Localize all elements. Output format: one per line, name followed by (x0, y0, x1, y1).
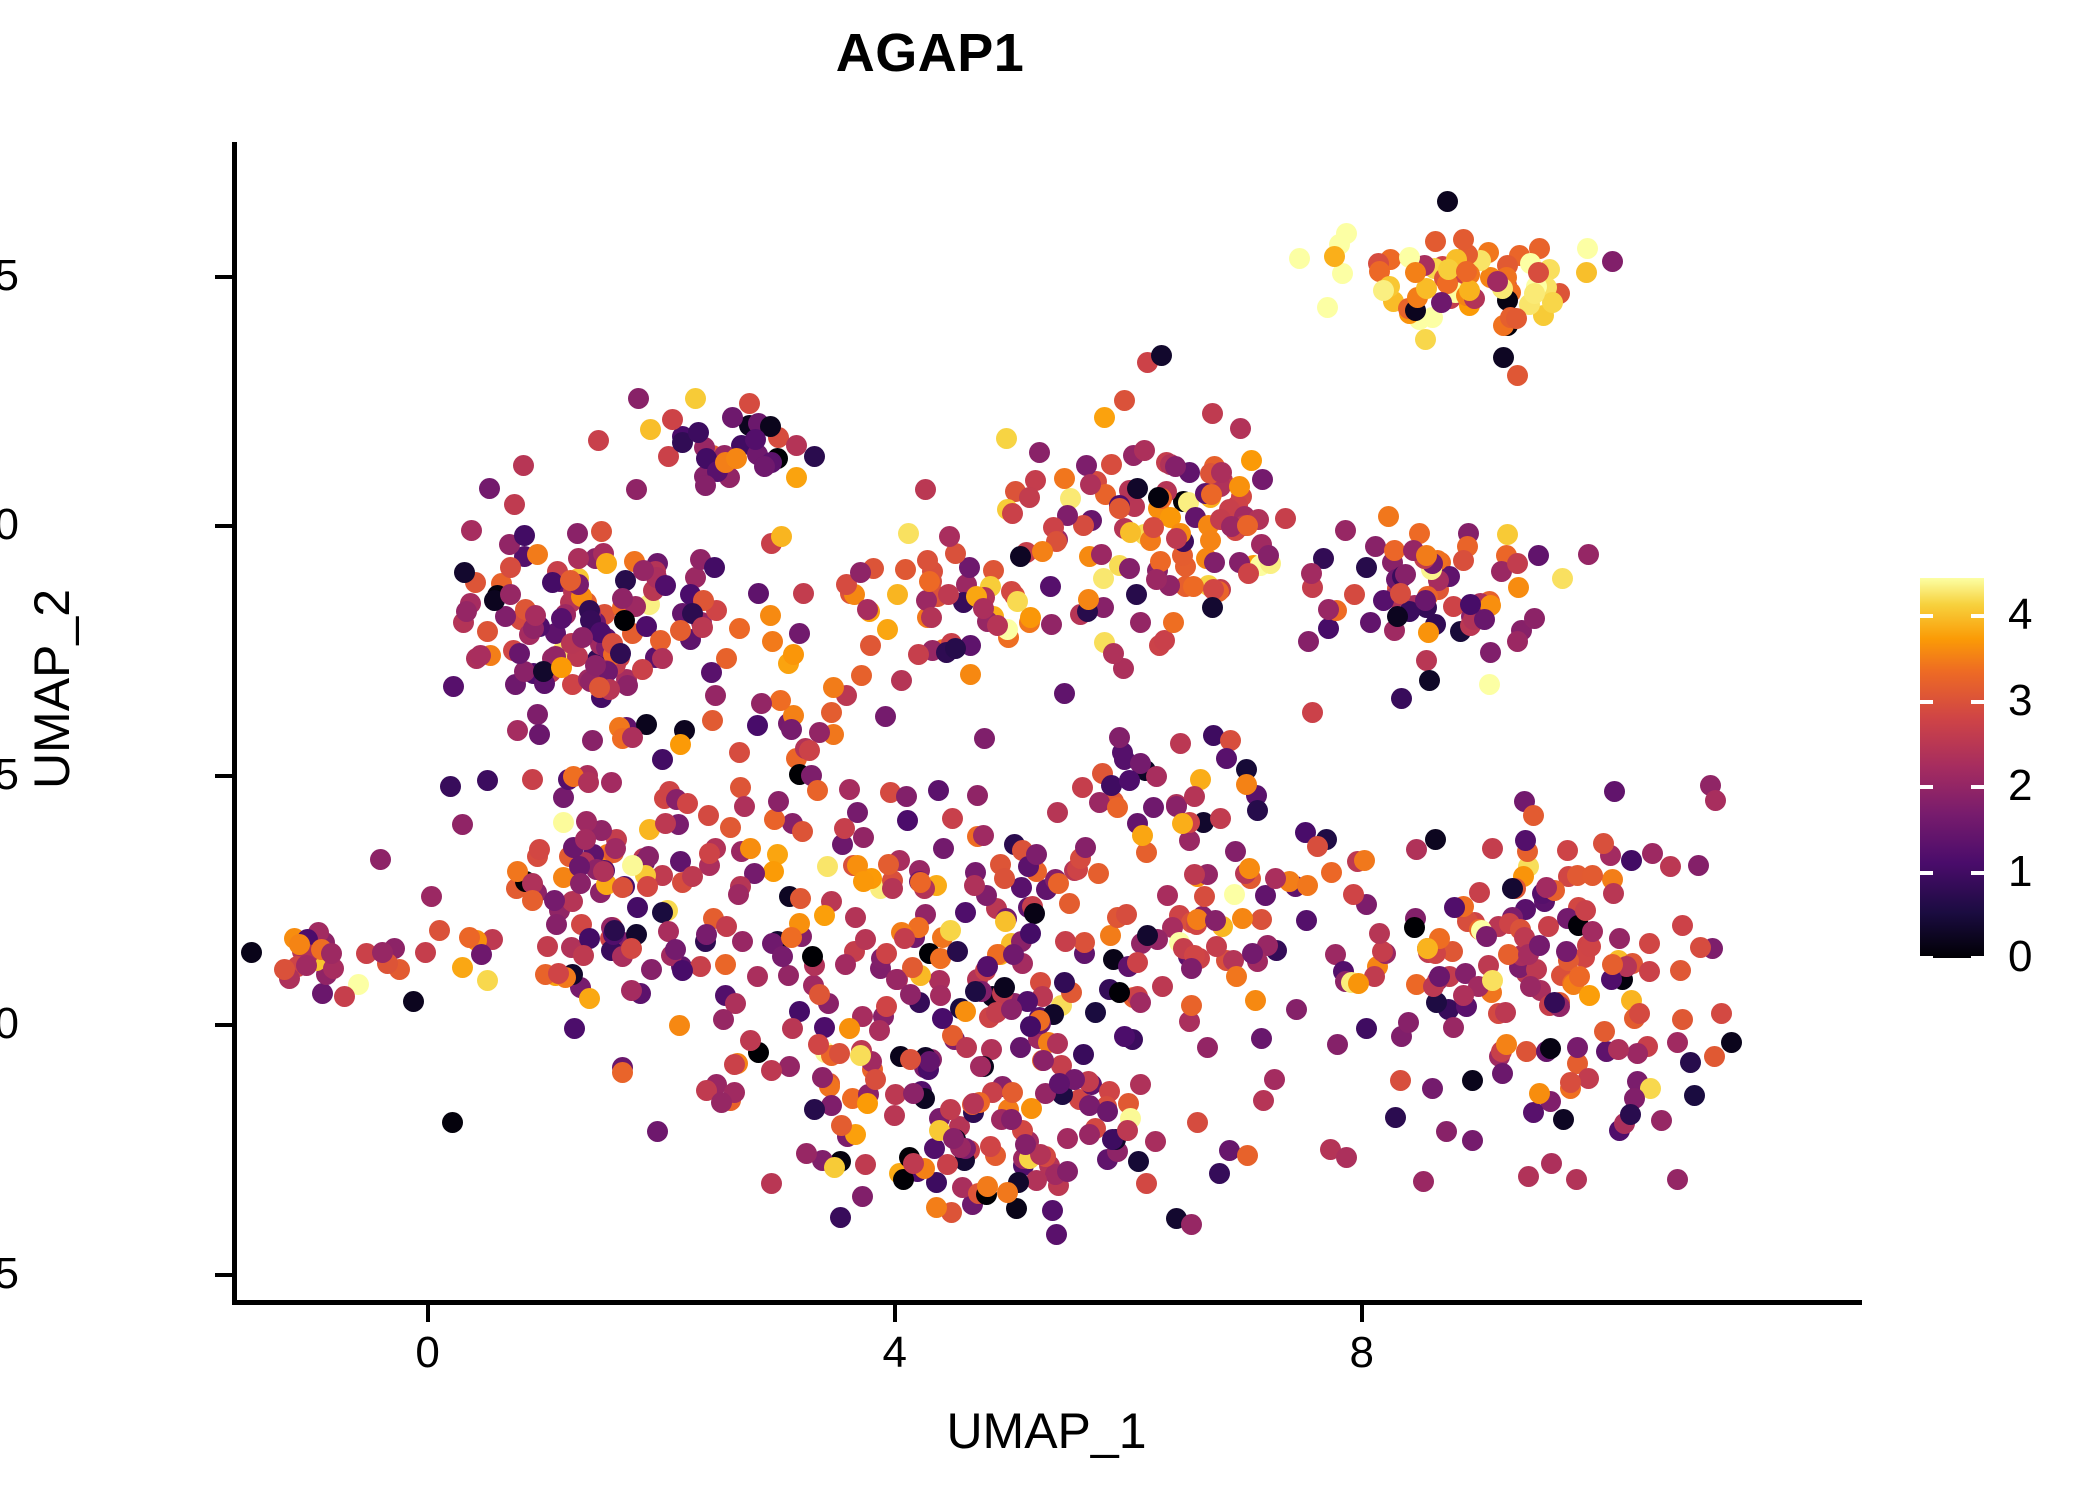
scatter-point (551, 657, 572, 678)
scatter-point (551, 608, 572, 629)
scatter-point (955, 1001, 976, 1022)
scatter-point (1385, 1107, 1406, 1128)
scatter-point (1528, 545, 1549, 566)
scatter-point (1540, 1038, 1561, 1059)
scatter-point (1688, 855, 1709, 876)
scatter-point (789, 623, 810, 644)
scatter-points-layer (235, 142, 1858, 1303)
scatter-point (1343, 884, 1364, 905)
scatter-point (745, 429, 766, 450)
scatter-point (1721, 1032, 1742, 1053)
scatter-point (1552, 568, 1573, 589)
scatter-point (507, 720, 528, 741)
scatter-point (1073, 1044, 1094, 1065)
colorbar-tick-label: 0 (2008, 935, 2032, 979)
scatter-point (903, 1083, 924, 1104)
scatter-point (1200, 530, 1221, 551)
scatter-point (1378, 506, 1399, 527)
scatter-point (1075, 837, 1096, 858)
scatter-point (1541, 1153, 1562, 1174)
scatter-point (573, 945, 594, 966)
colorbar-tick-mark (1971, 700, 1984, 704)
scatter-point (1080, 474, 1101, 495)
scatter-point (1453, 229, 1474, 250)
scatter-point (730, 777, 751, 798)
scatter-point (921, 607, 942, 628)
scatter-point (713, 1009, 734, 1030)
scatter-point (372, 942, 393, 963)
scatter-point (1029, 442, 1050, 463)
colorbar-tick-mark (1971, 614, 1984, 618)
scatter-point (1109, 982, 1130, 1003)
scatter-point (1157, 885, 1178, 906)
x-axis-line (232, 1300, 1862, 1305)
scatter-point (895, 559, 916, 580)
scatter-point (1356, 557, 1377, 578)
scatter-point (504, 494, 525, 515)
plot-panel (235, 142, 1858, 1303)
scatter-point (1237, 515, 1258, 536)
scatter-point (1184, 864, 1205, 885)
scatter-point (956, 1037, 977, 1058)
scatter-point (839, 779, 860, 800)
scatter-point (1236, 774, 1257, 795)
scatter-point (1459, 280, 1480, 301)
scatter-point (751, 693, 772, 714)
scatter-point (685, 388, 706, 409)
scatter-point (734, 796, 755, 817)
scatter-point (1369, 923, 1390, 944)
scatter-point (1057, 1128, 1078, 1149)
scatter-point (1462, 1130, 1483, 1151)
scatter-point (1398, 1012, 1419, 1033)
scatter-point (1579, 985, 1600, 1006)
scatter-point (1578, 1068, 1599, 1089)
scatter-point (1210, 808, 1231, 829)
scatter-point (705, 685, 726, 706)
scatter-point (628, 388, 649, 409)
scatter-point (886, 969, 907, 990)
scatter-point (809, 984, 830, 1005)
scatter-point (869, 1020, 890, 1041)
scatter-point (740, 1030, 761, 1051)
scatter-point (1415, 329, 1436, 350)
scatter-point (1518, 1166, 1539, 1187)
scatter-point (1146, 569, 1167, 590)
scatter-point (747, 715, 768, 736)
scatter-point (1047, 802, 1068, 823)
scatter-point (1417, 938, 1438, 959)
scatter-point (1085, 1002, 1106, 1023)
scatter-point (908, 644, 929, 665)
scatter-point (1456, 261, 1477, 282)
colorbar-tick-label: 2 (2008, 764, 2032, 808)
scatter-point (522, 769, 543, 790)
scatter-point (1704, 1046, 1725, 1067)
scatter-point (1684, 1085, 1705, 1106)
scatter-point (1391, 688, 1412, 709)
scatter-point (1094, 407, 1115, 428)
x-tick-label: 8 (1302, 1328, 1422, 1378)
scatter-point (461, 520, 482, 541)
scatter-point (1566, 1169, 1587, 1190)
scatter-point (514, 525, 535, 546)
scatter-point (1137, 925, 1158, 946)
scatter-point (1252, 469, 1273, 490)
scatter-point (655, 575, 676, 596)
scatter-point (415, 942, 436, 963)
scatter-point (1390, 1070, 1411, 1091)
scatter-point (1344, 584, 1365, 605)
scatter-point (1515, 830, 1536, 851)
scatter-point (1443, 1017, 1464, 1038)
scatter-point (688, 422, 709, 443)
scatter-point (919, 1051, 940, 1072)
scatter-point (1318, 618, 1339, 639)
scatter-point (690, 956, 711, 977)
scatter-point (960, 664, 981, 685)
scatter-point (1476, 926, 1497, 947)
scatter-point (1033, 1050, 1054, 1071)
scatter-point (804, 1099, 825, 1120)
scatter-point (1275, 508, 1296, 529)
scatter-point (1239, 858, 1260, 879)
scatter-point (605, 838, 626, 859)
scatter-point (772, 946, 793, 967)
scatter-point (632, 659, 653, 680)
scatter-point (1705, 790, 1726, 811)
scatter-point (1602, 251, 1623, 272)
scatter-point (610, 643, 631, 664)
scatter-point (928, 780, 949, 801)
scatter-point (980, 1136, 1001, 1157)
scatter-point (1318, 599, 1339, 620)
scatter-point (1253, 1090, 1274, 1111)
scatter-point (1578, 544, 1599, 565)
scatter-point (884, 1105, 905, 1126)
x-tick-mark (1360, 1305, 1364, 1322)
colorbar-tick-label: 1 (2008, 850, 2032, 894)
scatter-point (939, 526, 960, 547)
scatter-point (1639, 961, 1660, 982)
scatter-point (1054, 468, 1075, 489)
scatter-point (601, 772, 622, 793)
scatter-point (1232, 908, 1253, 929)
scatter-point (1003, 944, 1024, 965)
scatter-point (522, 890, 543, 911)
scatter-point (900, 1049, 921, 1070)
scatter-point (1437, 191, 1458, 212)
scatter-point (877, 619, 898, 640)
x-tick-mark (426, 1305, 430, 1322)
scatter-point (1238, 563, 1259, 584)
scatter-point (312, 983, 333, 1004)
scatter-point (875, 706, 896, 727)
scatter-point (1181, 958, 1202, 979)
scatter-point (567, 523, 588, 544)
scatter-point (1538, 916, 1559, 937)
scatter-point (612, 877, 633, 898)
scatter-point (1128, 1151, 1149, 1172)
scatter-point (1418, 622, 1439, 643)
scatter-point (974, 728, 995, 749)
scatter-point (470, 645, 491, 666)
scatter-point (1523, 1102, 1544, 1123)
scatter-point (1015, 1134, 1036, 1155)
scatter-point (471, 944, 492, 965)
scatter-point (702, 710, 723, 731)
scatter-point (1415, 590, 1436, 611)
scatter-point (1575, 900, 1596, 921)
scatter-point (1582, 865, 1603, 886)
scatter-point (477, 970, 498, 991)
scatter-point (1127, 952, 1148, 973)
scatter-point (1130, 612, 1151, 633)
scatter-point (917, 550, 938, 571)
scatter-point (1620, 1104, 1641, 1125)
colorbar-tick-mark (1920, 956, 1933, 960)
scatter-point (926, 1197, 947, 1218)
scatter-point (940, 920, 961, 941)
y-tick-mark (215, 1023, 232, 1027)
scatter-point (1093, 568, 1114, 589)
x-axis-label: UMAP_1 (235, 1402, 1858, 1460)
scatter-point (824, 1157, 845, 1178)
scatter-point (852, 1186, 873, 1207)
scatter-point (696, 924, 717, 945)
scatter-point (454, 562, 475, 583)
scatter-point (1336, 223, 1357, 244)
scatter-point (786, 467, 807, 488)
scatter-point (695, 475, 716, 496)
y-axis-label: UMAP_2 (23, 519, 81, 859)
x-tick-label: 4 (835, 1328, 955, 1378)
scatter-point (1170, 733, 1191, 754)
scatter-point (726, 448, 747, 469)
scatter-point (771, 526, 792, 547)
scatter-point (604, 920, 625, 941)
scatter-point (1130, 1074, 1151, 1095)
scatter-point (876, 996, 897, 1017)
scatter-point (761, 1173, 782, 1194)
scatter-point (1507, 365, 1528, 386)
scatter-point (585, 655, 606, 676)
chart-page: AGAP1 -2.50.02.55.07.5 048 UMAP_2 UMAP_1… (0, 0, 2100, 1500)
scatter-point (672, 960, 693, 981)
scatter-point (570, 873, 591, 894)
scatter-point (670, 620, 691, 641)
scatter-point (930, 985, 951, 1006)
scatter-point (739, 393, 760, 414)
scatter-point (850, 562, 871, 583)
colorbar-tick-label: 4 (2008, 593, 2032, 637)
scatter-point (1373, 280, 1394, 301)
scatter-point (940, 1099, 961, 1120)
scatter-point (1404, 917, 1425, 938)
y-tick-label: 0.0 (0, 999, 19, 1049)
scatter-point (799, 740, 820, 761)
scatter-point (997, 1182, 1018, 1203)
scatter-point (763, 861, 784, 882)
scatter-point (977, 956, 998, 977)
scatter-point (582, 730, 603, 751)
scatter-point (1114, 1026, 1135, 1047)
scatter-point (1627, 1043, 1648, 1064)
scatter-point (1055, 931, 1076, 952)
scatter-point (802, 946, 823, 967)
scatter-point (578, 772, 599, 793)
scatter-point (732, 931, 753, 952)
scatter-point (296, 955, 317, 976)
scatter-point (740, 838, 761, 859)
scatter-point (938, 584, 959, 605)
scatter-point (1103, 643, 1124, 664)
scatter-point (1143, 797, 1164, 818)
scatter-point (1336, 1147, 1357, 1168)
scatter-point (572, 627, 593, 648)
scatter-point (855, 1154, 876, 1175)
colorbar-tick-label: 3 (2008, 679, 2032, 723)
scatter-point (1107, 797, 1128, 818)
scatter-point (1444, 897, 1465, 918)
scatter-point (955, 902, 976, 923)
scatter-point (1289, 248, 1310, 269)
scatter-point (1163, 612, 1184, 633)
colorbar-gradient (1920, 578, 1984, 958)
scatter-point (1152, 976, 1173, 997)
scatter-point (1523, 805, 1544, 826)
scatter-point (853, 871, 874, 892)
scatter-point (421, 886, 442, 907)
scatter-point (637, 876, 658, 897)
scatter-point (1079, 1124, 1100, 1145)
scatter-point (589, 677, 610, 698)
y-axis-line (232, 142, 237, 1305)
scatter-point (1116, 904, 1137, 925)
colorbar-tick-mark (1971, 871, 1984, 875)
scatter-point (440, 776, 461, 797)
scatter-point (932, 1008, 953, 1029)
scatter-point (1502, 878, 1523, 899)
scatter-point (560, 570, 581, 591)
scatter-point (970, 1056, 991, 1077)
scatter-point (1001, 1109, 1022, 1130)
scatter-point (1577, 238, 1598, 259)
colorbar-tick-mark (1920, 871, 1933, 875)
scatter-point (1480, 642, 1501, 663)
scatter-point (845, 907, 866, 928)
scatter-point (1209, 1163, 1230, 1184)
scatter-point (1553, 1109, 1574, 1130)
scatter-point (761, 1060, 782, 1081)
scatter-point (1026, 1170, 1047, 1191)
scatter-point (1365, 536, 1386, 557)
scatter-point (477, 770, 498, 791)
scatter-point (1101, 454, 1122, 475)
scatter-point (568, 548, 589, 569)
scatter-point (537, 936, 558, 957)
scatter-point (692, 617, 713, 638)
scatter-point (1057, 1161, 1078, 1182)
scatter-point (792, 821, 813, 842)
scatter-point (1302, 702, 1323, 723)
scatter-point (1354, 850, 1375, 871)
scatter-point (1204, 552, 1225, 573)
scatter-point (627, 897, 648, 918)
scatter-point (1602, 954, 1623, 975)
scatter-point (915, 479, 936, 500)
scatter-point (1130, 992, 1151, 1013)
scatter-point (1019, 487, 1040, 508)
scatter-point (669, 1015, 690, 1036)
scatter-point (1047, 1033, 1068, 1054)
scatter-point (1206, 936, 1227, 957)
colorbar-tick-mark (1920, 785, 1933, 789)
scatter-point (1074, 932, 1095, 953)
scatter-point (1194, 886, 1215, 907)
scatter-point (1327, 1034, 1348, 1055)
scatter-point (477, 621, 498, 642)
scatter-point (701, 662, 722, 683)
scatter-point (1360, 612, 1381, 633)
scatter-point (1387, 606, 1408, 627)
scatter-point (778, 965, 799, 986)
scatter-point (1493, 347, 1514, 368)
scatter-point (1109, 498, 1130, 519)
scatter-point (1524, 608, 1545, 629)
scatter-point (1088, 863, 1109, 884)
scatter-point (1184, 786, 1205, 807)
scatter-point (633, 560, 654, 581)
scatter-point (1114, 390, 1135, 411)
scatter-point (1492, 1063, 1513, 1084)
scatter-point (1335, 520, 1356, 541)
scatter-point (562, 891, 583, 912)
scatter-point (1667, 1169, 1688, 1190)
scatter-point (1247, 800, 1268, 821)
scatter-point (1317, 297, 1338, 318)
scatter-point (677, 793, 698, 814)
scatter-point (1604, 781, 1625, 802)
scatter-point (334, 986, 355, 1007)
scatter-point (1469, 882, 1490, 903)
scatter-point (1251, 909, 1272, 930)
scatter-point (1002, 1082, 1023, 1103)
y-tick-label: 7.5 (0, 251, 19, 301)
scatter-point (1507, 553, 1528, 574)
scatter-point (891, 670, 912, 691)
scatter-point (1453, 550, 1474, 571)
colorbar-tick-mark (1971, 956, 1984, 960)
scatter-point (1010, 546, 1031, 567)
scatter-point (1593, 833, 1614, 854)
scatter-point (781, 719, 802, 740)
scatter-point (817, 856, 838, 877)
scatter-point (1132, 825, 1153, 846)
scatter-point (715, 954, 736, 975)
scatter-point (1032, 541, 1053, 562)
scatter-point (546, 914, 567, 935)
scatter-point (1026, 844, 1047, 865)
scatter-point (1609, 928, 1630, 949)
scatter-point (1495, 1002, 1516, 1023)
scatter-point (754, 456, 775, 477)
scatter-point (1202, 597, 1223, 618)
scatter-point (1001, 999, 1022, 1020)
scatter-point (793, 583, 814, 604)
scatter-point (804, 446, 825, 467)
scatter-point (821, 702, 842, 723)
